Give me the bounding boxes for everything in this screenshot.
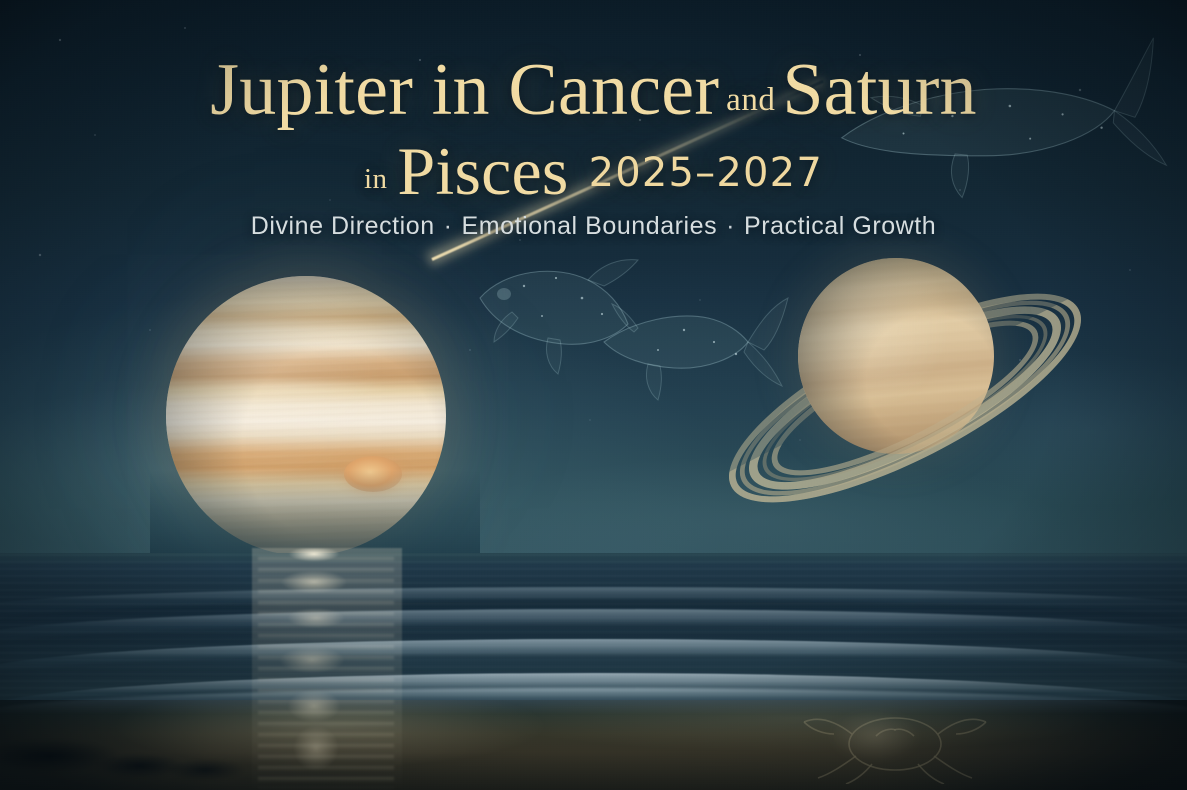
headline-year-range: 2025–2027 — [569, 150, 823, 196]
subtitle: Divine Direction·Emotional Boundaries·Pr… — [0, 212, 1187, 241]
ocean — [0, 553, 1187, 713]
headline-line-2: inPisces2025–2027 — [0, 134, 1187, 222]
jupiter-limb-shading — [166, 276, 446, 556]
beach-sand — [0, 700, 1187, 790]
subtitle-item-3: Practical Growth — [744, 212, 936, 240]
headline-part-2: Saturn — [782, 49, 976, 131]
headline-conjunction: and — [719, 82, 782, 118]
astrology-poster: Jupiter in CancerandSaturn inPisces2025–… — [0, 0, 1187, 790]
jupiter-planet — [166, 276, 446, 556]
headline-line-1: Jupiter in CancerandSaturn — [0, 50, 1187, 144]
subtitle-separator-1: · — [435, 212, 462, 240]
headline-preposition: in — [364, 163, 397, 195]
headline-part-1: Jupiter in Cancer — [210, 49, 719, 131]
subtitle-item-2: Emotional Boundaries — [462, 212, 718, 240]
subtitle-separator-2: · — [717, 212, 744, 240]
wet-sand-sheen — [0, 700, 1187, 790]
headline-sign: Pisces — [397, 133, 568, 209]
subtitle-item-1: Divine Direction — [251, 212, 435, 240]
